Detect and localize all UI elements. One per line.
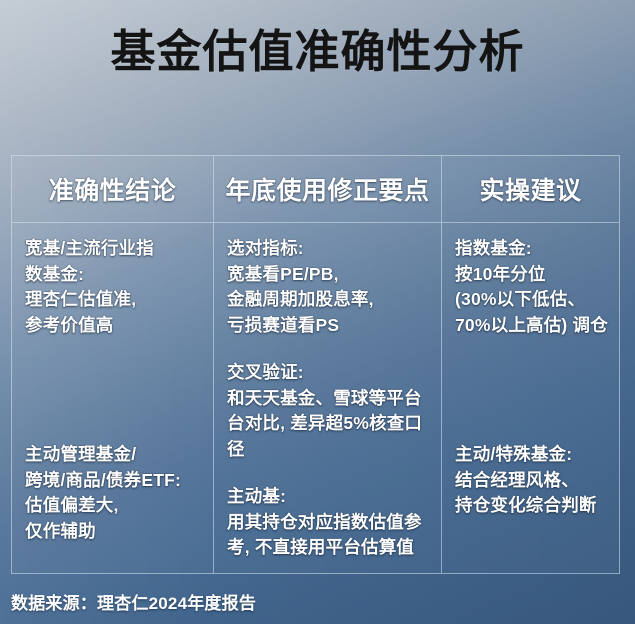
column-header-label: 准确性结论 xyxy=(49,171,177,207)
table-body-row: 宽基/主流行业指 数基金: 理杏仁估值准, 参考价值高 主动管理基金/ 跨境/商… xyxy=(12,223,619,573)
table-cell-year-end-correction-points: 选对指标: 宽基看PE/PB, 金融周期加股息率, 亏损赛道看PS 交叉验证: … xyxy=(213,223,441,573)
infographic-canvas: 基金估值准确性分析 准确性结论 年底使用修正要点 实操建议 宽基/主流行业指 数… xyxy=(0,0,635,624)
data-source-note: 数据来源：理杏仁2024年度报告 xyxy=(11,589,256,614)
content-block: 指数基金: 按10年分位 (30%以下低估、 70%以上高估) 调仓 xyxy=(455,236,611,338)
content-block: 选对指标: 宽基看PE/PB, 金融周期加股息率, 亏损赛道看PS xyxy=(227,236,433,338)
content-block: 主动管理基金/ 跨境/商品/债券ETF: 估值偏差大, 仅作辅助 xyxy=(25,442,205,544)
page-title: 基金估值准确性分析 xyxy=(0,26,635,78)
column-header-label: 年底使用修正要点 xyxy=(225,171,429,207)
table-cell-practical-advice: 指数基金: 按10年分位 (30%以下低估、 70%以上高估) 调仓 主动/特殊… xyxy=(441,223,619,573)
table-cell-accuracy-conclusion: 宽基/主流行业指 数基金: 理杏仁估值准, 参考价值高 主动管理基金/ 跨境/商… xyxy=(12,223,213,573)
column-header-year-end-correction-points: 年底使用修正要点 xyxy=(213,156,441,222)
content-block: 主动/特殊基金: 结合经理风格、 持仓变化综合判断 xyxy=(455,442,611,519)
table-header-row: 准确性结论 年底使用修正要点 实操建议 xyxy=(12,156,619,223)
column-header-practical-advice: 实操建议 xyxy=(441,156,619,222)
content-block: 交叉验证: 和天天基金、雪球等平台 台对比, 差异超5%核查口径 xyxy=(227,360,433,462)
content-block: 宽基/主流行业指 数基金: 理杏仁估值准, 参考价值高 xyxy=(25,236,205,338)
column-header-label: 实操建议 xyxy=(479,171,581,207)
content-block: 主动基: 用其持仓对应指数估值参 考, 不直接用平台估算值 xyxy=(227,484,433,561)
analysis-table: 准确性结论 年底使用修正要点 实操建议 宽基/主流行业指 数基金: 理杏仁估值准… xyxy=(11,155,620,574)
column-header-accuracy-conclusion: 准确性结论 xyxy=(12,156,213,222)
